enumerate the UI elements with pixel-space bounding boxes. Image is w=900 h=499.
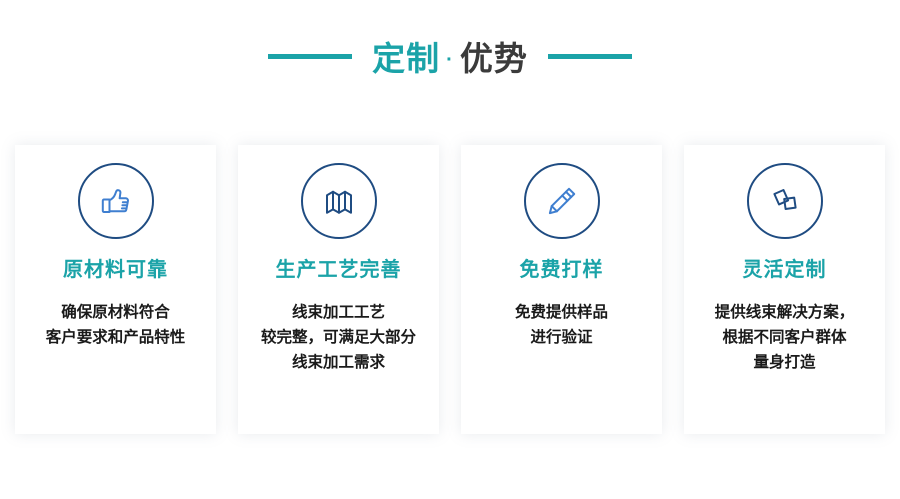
header-rule-left bbox=[268, 54, 352, 59]
description-line: 提供线束解决方案， bbox=[715, 300, 855, 325]
feature-card-title: 原材料可靠 bbox=[63, 260, 168, 280]
page-title: 定制 · 优势 bbox=[372, 32, 528, 80]
description-line: 客户要求和产品特性 bbox=[46, 325, 186, 350]
feature-card-title: 生产工艺完善 bbox=[276, 260, 402, 280]
section-header: 定制 · 优势 bbox=[0, 26, 900, 86]
description-line: 较完整，可满足大部分 bbox=[261, 325, 416, 350]
feature-card-description: 提供线束解决方案， 根据不同客户群体 量身打造 bbox=[705, 300, 865, 375]
icon-circle bbox=[524, 163, 600, 239]
feature-card-title: 灵活定制 bbox=[743, 260, 827, 280]
description-line: 确保原材料符合 bbox=[46, 300, 186, 325]
icon-circle bbox=[78, 163, 154, 239]
description-line: 量身打造 bbox=[715, 350, 855, 375]
description-line: 线束加工需求 bbox=[261, 350, 416, 375]
icon-circle bbox=[747, 163, 823, 239]
page-title-main: 优势 bbox=[460, 32, 528, 80]
feature-card-description: 免费提供样品 进行验证 bbox=[505, 300, 618, 350]
feature-card-description: 确保原材料符合 客户要求和产品特性 bbox=[36, 300, 196, 350]
feature-card-list: 原材料可靠 确保原材料符合 客户要求和产品特性 生产工艺完善 线束加工工艺 较完… bbox=[15, 145, 885, 434]
icon-circle bbox=[301, 163, 377, 239]
feature-card[interactable]: 生产工艺完善 线束加工工艺 较完整，可满足大部分 线束加工需求 bbox=[238, 145, 439, 434]
feature-card[interactable]: 免费打样 免费提供样品 进行验证 bbox=[461, 145, 662, 434]
folded-map-icon bbox=[319, 181, 359, 221]
feature-card-title: 免费打样 bbox=[520, 260, 604, 280]
page-title-separator: · bbox=[446, 49, 454, 72]
description-line: 进行验证 bbox=[515, 325, 608, 350]
pencil-icon bbox=[542, 181, 582, 221]
thumbs-up-icon bbox=[96, 181, 136, 221]
feature-card[interactable]: 灵活定制 提供线束解决方案， 根据不同客户群体 量身打造 bbox=[684, 145, 885, 434]
description-line: 线束加工工艺 bbox=[261, 300, 416, 325]
description-line: 免费提供样品 bbox=[515, 300, 608, 325]
layers-icon bbox=[765, 181, 805, 221]
description-line: 根据不同客户群体 bbox=[715, 325, 855, 350]
feature-card[interactable]: 原材料可靠 确保原材料符合 客户要求和产品特性 bbox=[15, 145, 216, 434]
header-rule-right bbox=[548, 54, 632, 59]
page-title-accent: 定制 bbox=[372, 32, 440, 80]
feature-card-description: 线束加工工艺 较完整，可满足大部分 线束加工需求 bbox=[251, 300, 426, 375]
